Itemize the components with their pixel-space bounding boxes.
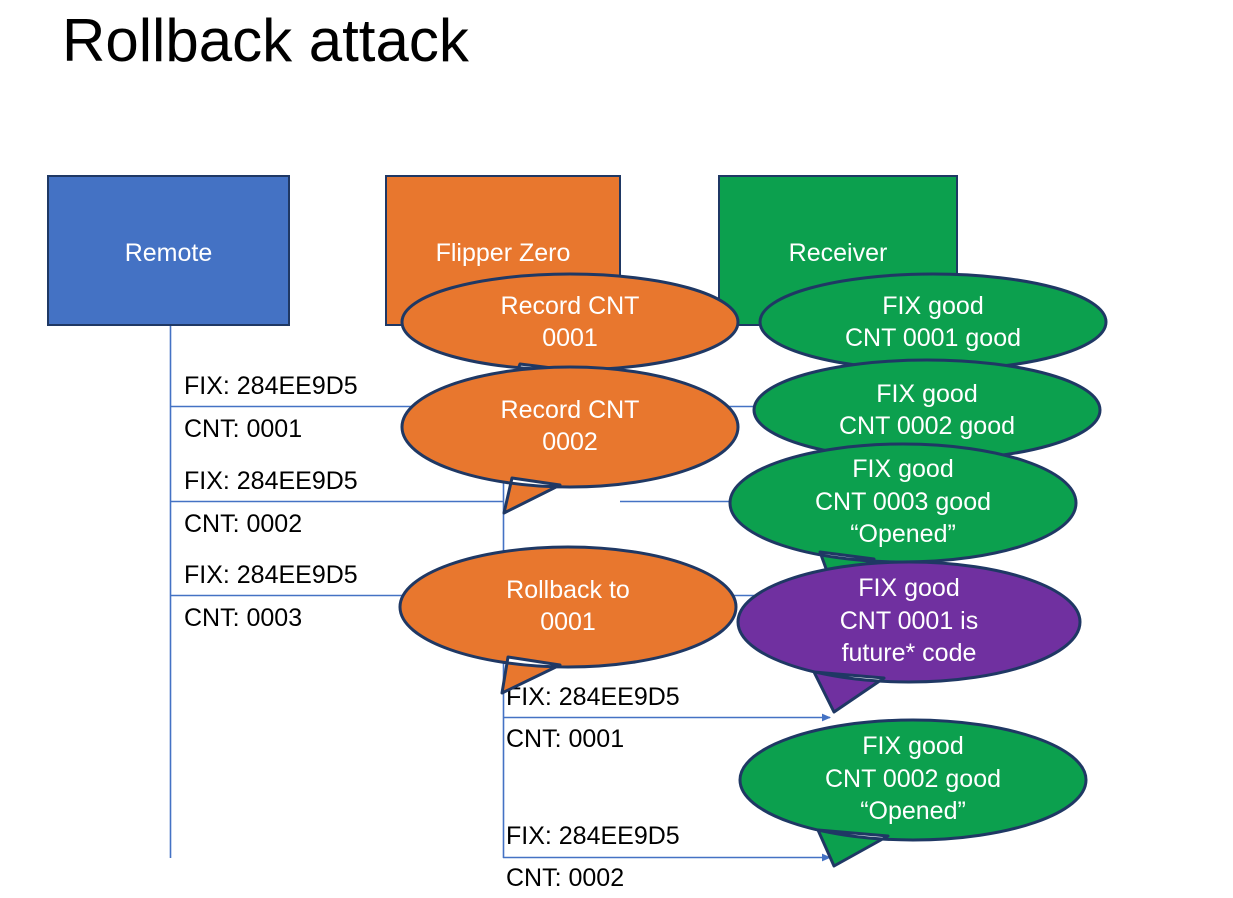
callout-flipper-record-0001[interactable]: Record CNT 0001 (400, 272, 740, 372)
callout-flipper-rollback-0001[interactable]: Rollback to 0001 (398, 545, 738, 675)
message-fix-m3: FIX: 284EE9D5 (184, 563, 358, 588)
message-fix-m2: FIX: 284EE9D5 (184, 469, 358, 494)
message-cnt-m3: CNT: 0003 (184, 606, 302, 631)
message-cnt-m1: CNT: 0001 (184, 417, 302, 442)
callout-receiver-cnt-0002-opened[interactable]: FIX good CNT 0002 good “Opened” (738, 718, 1088, 844)
callout-flipper-record-0002[interactable]: Record CNT 0002 (400, 365, 740, 485)
callout-receiver-cnt-0003-opened[interactable]: FIX good CNT 0003 good “Opened” (728, 442, 1078, 566)
message-cnt-m2: CNT: 0002 (184, 512, 302, 537)
callout-receiver-cnt-0001-future[interactable]: FIX good CNT 0001 is future* code (736, 560, 1082, 686)
message-cnt-m4: CNT: 0001 (506, 727, 624, 752)
message-cnt-m5: CNT: 0002 (506, 866, 624, 891)
actor-label-receiver: Receiver (720, 241, 956, 266)
actor-label-flipper: Flipper Zero (387, 241, 619, 266)
message-fix-m5: FIX: 284EE9D5 (506, 824, 680, 849)
slide-canvas: Rollback attack Remote Flipper Zero (0, 0, 1233, 898)
message-fix-m1: FIX: 284EE9D5 (184, 374, 358, 399)
actor-box-remote[interactable]: Remote (47, 175, 290, 326)
callout-receiver-cnt-0001-good[interactable]: FIX good CNT 0001 good (758, 272, 1108, 372)
actor-label-remote: Remote (49, 241, 288, 266)
